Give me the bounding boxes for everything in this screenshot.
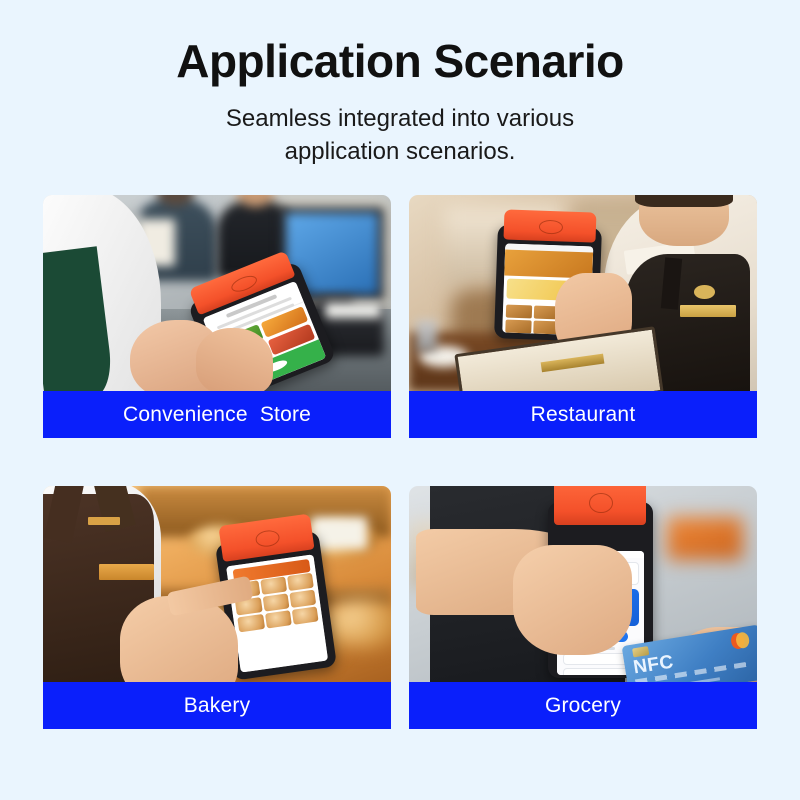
scenario-label-restaurant: Restaurant [531,403,636,427]
bread-item [238,614,265,632]
scenario-photo-restaurant [409,195,757,391]
scenario-photo-grocery: $7.00 [409,486,757,682]
scenario-label-bar-bakery: Bakery [43,682,391,729]
bread-item [260,577,287,595]
orange-product-box [667,517,744,560]
baker-name-tag [99,564,155,580]
page-subtitle-line-1: Seamless integrated into various [0,102,800,135]
page-header: Application Scenario Seamless integrated… [0,0,800,168]
scenario-label-bar-grocery: Grocery [409,682,757,729]
scenario-card-grocery[interactable]: $7.00 [409,486,757,729]
food-item [506,320,532,334]
bread-item [287,573,314,591]
scenario-label-grocery: Grocery [545,694,621,718]
bakery-scene [43,486,391,682]
scenario-label-bar-restaurant: Restaurant [409,391,757,438]
waiter-lapel-pin [694,285,715,299]
page-title: Application Scenario [0,36,800,88]
application-scenario-page: Application Scenario Seamless integrated… [0,0,800,800]
grocery-nfc-scene: $7.00 [409,486,757,682]
convenience-store-scene [43,195,391,391]
printed-receipt-paper [325,303,381,319]
bread-app-screen [226,555,328,673]
scenario-photo-bakery [43,486,391,682]
scenario-photo-convenience-store [43,195,391,391]
scenario-label-bar-convenience-store: Convenience Store [43,391,391,438]
clerk-hand-holding-terminal [513,545,631,655]
page-subtitle: Seamless integrated into various applica… [0,102,800,168]
page-subtitle-line-2: application scenarios. [0,135,800,168]
scenario-card-bakery[interactable]: Bakery [43,486,391,729]
bread-item [292,607,319,625]
pos-printer-lid [554,486,646,525]
bread-item [289,590,316,608]
waiter-hair [635,195,732,207]
baker-apron-buckle [88,517,119,525]
scenario-card-grid: Convenience Store [43,195,757,729]
scenario-label-convenience-store: Convenience Store [123,403,311,427]
cashier-hand-right [196,328,273,391]
pos-printer-lid [504,210,597,243]
condiment-cruet [416,320,437,351]
scenario-label-bakery: Bakery [184,694,251,718]
food-item [506,305,532,319]
mastercard-logo-icon [729,632,749,650]
scenario-card-restaurant[interactable]: Restaurant [409,195,757,438]
pos-screen[interactable] [226,555,328,673]
bread-item [265,611,292,629]
bread-item [262,594,289,612]
waiter-name-badge [680,305,736,317]
restaurant-scene [409,195,757,391]
scenario-card-convenience-store[interactable]: Convenience Store [43,195,391,438]
